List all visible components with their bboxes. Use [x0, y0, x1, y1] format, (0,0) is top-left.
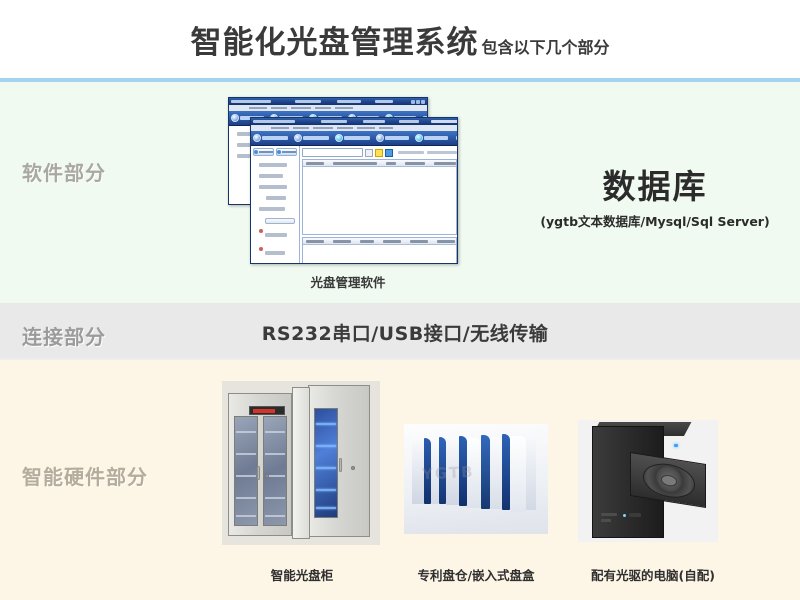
- toolbar-button-disc-out[interactable]: [294, 134, 329, 142]
- page-header: 智能化光盘管理系统 包含以下几个部分: [0, 0, 800, 78]
- database-block: 数据库 (ygtb文本数据库/Mysql/Sql Server): [520, 160, 790, 230]
- status-text: [398, 151, 457, 154]
- software-screenshots: [228, 97, 468, 267]
- window-titlebar: [229, 98, 427, 105]
- search-input[interactable]: [302, 148, 363, 157]
- sidebar-tabs[interactable]: [253, 148, 297, 156]
- data-grid-upper[interactable]: [302, 159, 457, 235]
- tree-item[interactable]: [259, 163, 287, 167]
- sidebar-tab-disc-list[interactable]: [276, 148, 297, 156]
- window-title-text: [231, 100, 411, 103]
- led-display-icon: [249, 406, 285, 415]
- tree-item[interactable]: [266, 196, 286, 200]
- minimize-icon[interactable]: [411, 100, 415, 104]
- section-label-connection: 连接部分: [22, 321, 106, 350]
- window-sidebar-front[interactable]: [251, 146, 300, 264]
- sidebar-tab-disc-cabinet[interactable]: [253, 148, 274, 156]
- tree-item-flagged[interactable]: [259, 229, 295, 240]
- slide-root: 智能化光盘管理系统 包含以下几个部分 软件部分: [0, 0, 800, 600]
- disc-query-icon: [335, 134, 343, 142]
- toolbar-button-search[interactable]: [415, 134, 448, 142]
- window-title-text-front: [253, 120, 458, 123]
- grid-rows-lower[interactable]: [303, 245, 456, 264]
- tree-item[interactable]: [259, 207, 285, 211]
- window-body-front: [251, 146, 457, 264]
- gear-icon: [376, 134, 384, 142]
- window-titlebar-front: [251, 118, 457, 125]
- refresh-icon[interactable]: [385, 149, 393, 157]
- tree-item[interactable]: [259, 174, 283, 178]
- page-title: 智能化光盘管理系统 包含以下几个部分: [190, 17, 609, 62]
- grid-header-upper: [303, 160, 456, 167]
- database-title: 数据库: [520, 160, 790, 208]
- tree-item[interactable]: [259, 185, 287, 189]
- disc-cabinet-photo: [222, 381, 380, 545]
- disc-icon: [277, 150, 281, 154]
- disc-platter: [643, 460, 695, 501]
- grid-header-lower: [303, 238, 456, 245]
- toolbar-button-help[interactable]: [451, 136, 458, 140]
- cabinet-glass-door-2: [263, 416, 287, 526]
- power-led-icon: [674, 444, 678, 447]
- cabinet-glass-door-1: [234, 416, 258, 526]
- close-icon[interactable]: [421, 100, 425, 104]
- section-label-software: 软件部分: [22, 157, 106, 186]
- window-content-front: [300, 146, 458, 264]
- window-controls[interactable]: [411, 100, 425, 104]
- computer-with-optical-drive-photo: [578, 420, 718, 542]
- page-title-main: 智能化光盘管理系统: [190, 17, 478, 62]
- app-window-front[interactable]: [250, 117, 458, 264]
- cabinet-side-panel: [292, 387, 310, 539]
- database-subtitle: (ygtb文本数据库/Mysql/Sql Server): [520, 211, 790, 230]
- cabinet-left: [228, 393, 292, 536]
- grid-rows-upper[interactable]: [303, 167, 456, 234]
- hardware-caption-cabinet: 智能光盘柜: [212, 565, 392, 584]
- disc-in-icon: [253, 134, 261, 142]
- maximize-icon[interactable]: [416, 100, 420, 104]
- window-toolbar-front[interactable]: [251, 131, 457, 146]
- disc-magazine-photo: YGTB: [404, 424, 548, 534]
- cabinet-icon: [254, 150, 258, 154]
- content-toolbar[interactable]: [302, 148, 457, 157]
- disc-out-icon: [294, 134, 302, 142]
- page-title-sub: 包含以下几个部分: [481, 34, 609, 58]
- tree-item-flagged[interactable]: [259, 247, 295, 258]
- folder-icon[interactable]: [375, 149, 383, 157]
- toolbar-button-settings[interactable]: [376, 134, 409, 142]
- data-grid-lower[interactable]: [302, 237, 457, 264]
- magnifier-icon[interactable]: [365, 149, 373, 157]
- sidebar-action-button[interactable]: [265, 218, 295, 224]
- connection-text: RS232串口/USB接口/无线传输: [240, 319, 570, 346]
- hardware-caption-magazine: 专利盘仓/嵌入式盘盒: [386, 565, 566, 584]
- software-caption: 光盘管理软件: [228, 272, 468, 291]
- disc-in-icon: [231, 114, 239, 122]
- section-label-hardware: 智能硬件部分: [22, 461, 148, 490]
- cabinet-glass-door-lit: [314, 408, 338, 518]
- cabinet-right: [308, 385, 370, 537]
- toolbar-button-disc-query[interactable]: [335, 134, 370, 142]
- toolbar-button-disc-in[interactable]: [253, 134, 288, 142]
- hardware-caption-computer: 配有光驱的电脑(自配): [558, 565, 748, 584]
- search-icon: [415, 134, 423, 142]
- photo-watermark: YGTB: [422, 463, 475, 484]
- sidebar-tree[interactable]: [253, 159, 297, 211]
